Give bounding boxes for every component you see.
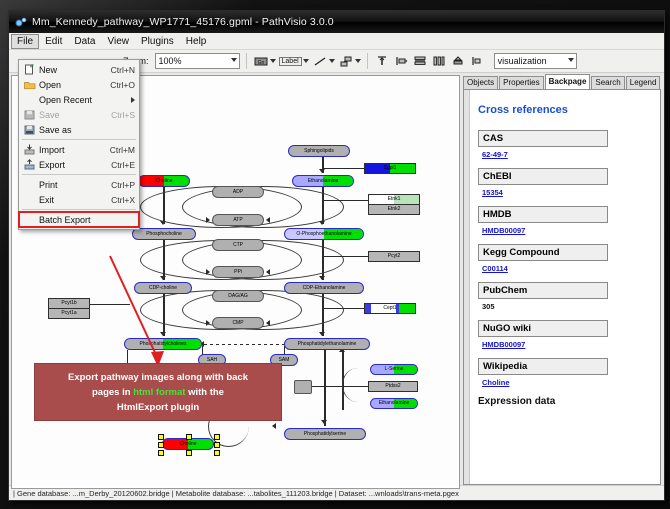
resize-handle[interactable]: [214, 442, 220, 448]
menu-accelerator: Ctrl+M: [110, 145, 135, 155]
arrowhead-icon: [266, 269, 270, 275]
save-as-icon: [23, 124, 36, 136]
chevron-down-icon: [568, 58, 574, 62]
arrowhead-icon: [319, 276, 325, 280]
pathway-node-choline-top[interactable]: Choline: [138, 175, 190, 187]
file-menu-dropdown[interactable]: New Ctrl+N Open Ctrl+O Open Recent: [18, 59, 140, 230]
node-label: Etnk1: [388, 197, 401, 202]
node-label: Pcyt2: [388, 254, 401, 259]
menu-view[interactable]: View: [101, 34, 135, 49]
node-label: O-Phosphoethanolamine: [296, 232, 351, 237]
menu-data[interactable]: Data: [68, 34, 101, 49]
label-tool[interactable]: Label: [279, 57, 309, 66]
menu-label: Open Recent: [39, 95, 135, 105]
link-wikipedia[interactable]: Choline: [482, 378, 510, 387]
pathvisio-window: Mm_Kennedy_pathway_WP1771_45176.gpml - P…: [8, 10, 665, 501]
backpage-footer: Expression data: [478, 396, 652, 407]
chevron-down-icon[interactable]: [303, 59, 309, 63]
resize-handle[interactable]: [186, 450, 192, 456]
menu-file[interactable]: File: [11, 34, 39, 49]
pathway-node-ppi[interactable]: PPi: [212, 266, 264, 278]
sidebar-tabstrip[interactable]: Objects Properties Backpage Search Legen…: [463, 75, 661, 89]
gene-product-tool[interactable]: Gn: [253, 53, 276, 69]
menu-accelerator: Ctrl+S: [111, 110, 135, 120]
node-label: Phosphocholine: [146, 232, 182, 237]
arrowhead-icon: [319, 332, 325, 336]
link-chebi[interactable]: 15354: [482, 188, 503, 197]
backpage-value-chebi[interactable]: 15354: [482, 188, 652, 197]
menu-label: Exit: [39, 195, 111, 205]
pathway-node-o-phosphoethanolamine[interactable]: O-Phosphoethanolamine: [284, 228, 364, 240]
menu-separator: [22, 209, 136, 210]
backpage-source-chebi: ChEBI: [478, 168, 608, 185]
tab-properties[interactable]: Properties: [499, 76, 543, 89]
menu-item-new[interactable]: New Ctrl+N: [19, 62, 139, 77]
distribute-vertical-icon[interactable]: [412, 53, 428, 69]
resize-handle[interactable]: [158, 450, 164, 456]
node-fill-right: [399, 304, 415, 313]
edge-anchor-ptdss2: [312, 386, 370, 387]
node-label: Ptdss2: [385, 384, 400, 389]
menu-separator: [22, 174, 136, 175]
menu-help[interactable]: Help: [180, 34, 213, 49]
pathway-node-l-serine[interactable]: L-Serine: [370, 364, 418, 375]
pathway-node-cdp-choline[interactable]: CDP-choline: [134, 282, 192, 294]
backpage-panel[interactable]: Cross references CAS 62-49-7 ChEBI 15354…: [463, 89, 661, 485]
node-label: SAM: [279, 358, 290, 363]
pathway-gene-ptdss2[interactable]: Ptdss2: [368, 381, 418, 392]
tab-legend[interactable]: Legend: [626, 76, 661, 89]
menu-label: Save as: [39, 125, 135, 135]
pathway-node-cmp[interactable]: CMP: [212, 317, 264, 329]
line-tool[interactable]: [312, 53, 335, 69]
edge-ptdetn-ptdser: [324, 350, 326, 426]
pathway-node-phosphocholine[interactable]: Phosphocholine: [132, 228, 196, 240]
screen: Mm_Kennedy_pathway_WP1771_45176.gpml - P…: [0, 0, 670, 509]
menu-accelerator: Ctrl+N: [111, 65, 135, 75]
node-label: Pcyt1b: [61, 301, 76, 306]
edge-cept1: [324, 308, 364, 309]
blank-icon: [23, 214, 36, 226]
backpage-source-wikipedia: Wikipedia: [478, 358, 608, 375]
toolbar-separator: [367, 53, 368, 69]
toolbar-separator: [246, 53, 247, 69]
menu-label: Open: [39, 80, 110, 90]
menu-accelerator: Ctrl+P: [111, 180, 135, 190]
node-label: ADP: [233, 190, 243, 195]
menu-item-save-as[interactable]: Save as: [19, 122, 139, 137]
blank-icon: [23, 194, 36, 206]
visualization-value: visualization: [498, 56, 547, 66]
pathway-node-dag-ag[interactable]: DAG/AG: [212, 290, 264, 302]
arrowhead-icon: [319, 169, 325, 173]
interaction-icon[interactable]: [338, 53, 354, 69]
menu-label: Import: [39, 145, 110, 155]
pathway-gene-sgpl1[interactable]: Sgpl1: [364, 163, 416, 174]
save-icon: [23, 109, 36, 121]
node-label: Choline: [180, 442, 197, 447]
annotation-line1: Export pathway images along with back: [68, 372, 248, 383]
pathway-gene-pcyt2[interactable]: Pcyt2: [368, 251, 420, 262]
backpage-source-pubchem: PubChem: [478, 282, 608, 299]
menu-item-save: Save Ctrl+S: [19, 107, 139, 122]
node-label: L-Serine: [385, 367, 404, 372]
new-file-icon: [23, 64, 36, 76]
annotation-line2-highlight: html format: [133, 387, 185, 398]
menu-label: Save: [39, 110, 111, 120]
resize-handle[interactable]: [214, 434, 220, 440]
arrowhead-icon: [266, 217, 270, 223]
tab-backpage[interactable]: Backpage: [545, 74, 591, 89]
arrowhead-icon: [206, 269, 210, 275]
backpage-source-hmdb: HMDB: [478, 206, 608, 223]
menu-edit[interactable]: Edit: [39, 34, 68, 49]
node-label: Sgpl1: [384, 166, 397, 171]
blank-icon: [23, 94, 36, 106]
backpage-value-hmdb[interactable]: HMDB00097: [482, 226, 652, 235]
resize-handle[interactable]: [158, 434, 164, 440]
backpage-value-cas[interactable]: 62-49-7: [482, 150, 652, 159]
pathway-gene-cept1[interactable]: Cept1: [364, 303, 416, 314]
annotation-banner: Export pathway images along with back pa…: [34, 363, 282, 421]
pathway-node-phosphatidylcholines[interactable]: Phosphatidylcholines: [124, 338, 202, 350]
pathway-node-phosphatidylethanolamine[interactable]: Phosphatidylethanolamine: [284, 338, 370, 350]
node-label: PPi: [234, 270, 242, 275]
annotation-line3: HtmlExport plugin: [117, 402, 199, 413]
node-label: Pcyt1a: [61, 311, 76, 316]
arrowhead-icon: [206, 217, 210, 223]
resize-handle[interactable]: [214, 450, 220, 456]
arrowhead-icon: [321, 420, 327, 424]
selection-group[interactable]: Choline: [156, 432, 220, 456]
menu-label: Export: [39, 160, 111, 170]
menu-label: Batch Export: [39, 215, 135, 225]
title-bar: Mm_Kennedy_pathway_WP1771_45176.gpml - P…: [9, 11, 664, 33]
pathway-node-atp[interactable]: ATP: [212, 214, 264, 226]
pathway-node-cdp-ethanolamine[interactable]: CDP-Ethanolamine: [284, 282, 364, 294]
blank-icon: [23, 179, 36, 191]
edge-pcyt2: [324, 256, 368, 257]
arrowhead-icon: [160, 276, 166, 280]
export-icon: [23, 159, 36, 171]
menu-accelerator: Ctrl+X: [111, 195, 135, 205]
align-top-icon[interactable]: [374, 53, 390, 69]
pathway-gene-etnk2[interactable]: Etnk2: [368, 204, 420, 215]
backpage-value-kegg[interactable]: C00114: [482, 264, 652, 273]
common-width-icon[interactable]: [469, 53, 485, 69]
align-left-icon[interactable]: [393, 53, 409, 69]
menu-accelerator: Ctrl+E: [111, 160, 135, 170]
menu-item-open[interactable]: Open Ctrl+O: [19, 77, 139, 92]
panel-scrollbar[interactable]: [464, 90, 470, 484]
menu-bar[interactable]: File Edit Data View Plugins Help: [9, 33, 664, 50]
label-icon[interactable]: Label: [279, 57, 302, 66]
node-label: SAH: [207, 358, 217, 363]
chevron-down-icon[interactable]: [329, 59, 335, 63]
node-label: CDP-Ethanolamine: [303, 286, 346, 291]
arrowhead-icon: [160, 332, 166, 336]
backpage-value-wikipedia[interactable]: Choline: [482, 378, 652, 387]
zoom-combo[interactable]: 100%: [155, 53, 240, 69]
resize-handle[interactable]: [158, 442, 164, 448]
menu-plugins[interactable]: Plugins: [135, 34, 180, 49]
pathway-node-sphingolipids[interactable]: Sphingolipids: [288, 145, 350, 157]
menu-item-exit[interactable]: Exit Ctrl+X: [19, 192, 139, 207]
gene-product-icon[interactable]: Gn: [253, 53, 269, 69]
zoom-value: 100%: [159, 56, 182, 66]
status-text: | Gene database: ...m_Derby_20120602.bri…: [13, 489, 459, 498]
chevron-down-icon[interactable]: [270, 59, 276, 63]
distribute-horizontal-icon[interactable]: [431, 53, 447, 69]
menu-item-export[interactable]: Export Ctrl+E: [19, 157, 139, 172]
tab-search[interactable]: Search: [591, 76, 624, 89]
pathway-node-phosphatidylserine[interactable]: Phosphatidylserine: [284, 428, 366, 440]
visualization-combo[interactable]: visualization: [494, 53, 577, 69]
edge-sgpl1: [324, 168, 364, 169]
backpage-source-nugo: NuGO wiki: [478, 320, 608, 337]
backpage-title: Cross references: [478, 104, 652, 116]
node-label: Choline: [156, 179, 173, 184]
node-label: Cept1: [383, 306, 396, 311]
window-title: Mm_Kennedy_pathway_WP1771_45176.gpml - P…: [32, 16, 334, 28]
stack-center-icon[interactable]: [450, 53, 466, 69]
node-label: CTP: [233, 243, 243, 248]
node-label: CMP: [232, 321, 243, 326]
node-label: Ethanolamine: [379, 401, 410, 406]
node-label: CDP-choline: [149, 286, 177, 291]
backpage-value-pubchem: 305: [482, 302, 652, 311]
pathway-node-ctp[interactable]: CTP: [212, 239, 264, 251]
chevron-right-icon: [131, 97, 135, 103]
link-cas[interactable]: 62-49-7: [482, 150, 508, 159]
line-icon[interactable]: [312, 53, 328, 69]
chevron-down-icon[interactable]: [355, 59, 361, 63]
edge-pcyt1: [90, 304, 130, 305]
node-label: Ethanolamine: [308, 179, 339, 184]
menu-accelerator: Ctrl+O: [110, 80, 135, 90]
pathway-node-anchor[interactable]: [294, 380, 312, 394]
backpage-value-nugo[interactable]: HMDB00097: [482, 340, 652, 349]
node-label: Phosphatidylserine: [304, 432, 346, 437]
interaction-tool[interactable]: [338, 53, 361, 69]
arrowhead-icon: [206, 320, 210, 326]
import-icon: [23, 144, 36, 156]
pathway-node-adp[interactable]: ADP: [212, 186, 264, 198]
menu-separator: [22, 139, 136, 140]
node-label: Phosphatidylcholines: [140, 342, 187, 347]
svg-text:Gn: Gn: [257, 60, 264, 66]
link-hmdb[interactable]: HMDB00097: [482, 226, 525, 235]
backpage-source-cas: CAS: [478, 130, 608, 147]
pathway-gene-pcyt1a[interactable]: Pcyt1a: [48, 308, 90, 319]
pathvisio-icon: [15, 16, 27, 28]
node-label: Etnk2: [388, 207, 401, 212]
menu-item-print[interactable]: Print Ctrl+P: [19, 177, 139, 192]
sidebar: Objects Properties Backpage Search Legen…: [463, 75, 661, 485]
menu-item-open-recent[interactable]: Open Recent: [19, 92, 139, 107]
node-label: DAG/AG: [228, 294, 247, 299]
resize-handle[interactable]: [186, 434, 192, 440]
menu-label: Print: [39, 180, 111, 190]
folder-open-icon: [23, 79, 36, 91]
menu-label: New: [39, 65, 111, 75]
backpage-source-kegg: Kegg Compound: [478, 244, 608, 261]
node-label: Phosphatidylethanolamine: [298, 342, 357, 347]
annotation-line2-pre: pages in: [92, 387, 133, 398]
node-label: Sphingolipids: [304, 149, 334, 154]
menu-item-batch-export[interactable]: Batch Export: [19, 212, 139, 227]
pathway-node-ethanolamine-top[interactable]: Ethanolamine: [292, 175, 354, 187]
arrowhead-icon: [272, 423, 276, 429]
tab-objects[interactable]: Objects: [463, 76, 498, 89]
link-nugo[interactable]: HMDB00097: [482, 340, 525, 349]
arrowhead-icon: [266, 320, 270, 326]
menu-item-import[interactable]: Import Ctrl+M: [19, 142, 139, 157]
annotation-line2-post: with the: [185, 387, 224, 398]
chevron-down-icon: [231, 58, 237, 62]
pathway-node-ethanolamine-bottom[interactable]: Ethanolamine: [370, 398, 418, 409]
link-kegg[interactable]: C00114: [482, 264, 508, 273]
edge-etnk: [324, 200, 368, 201]
node-label: ATP: [233, 218, 242, 223]
